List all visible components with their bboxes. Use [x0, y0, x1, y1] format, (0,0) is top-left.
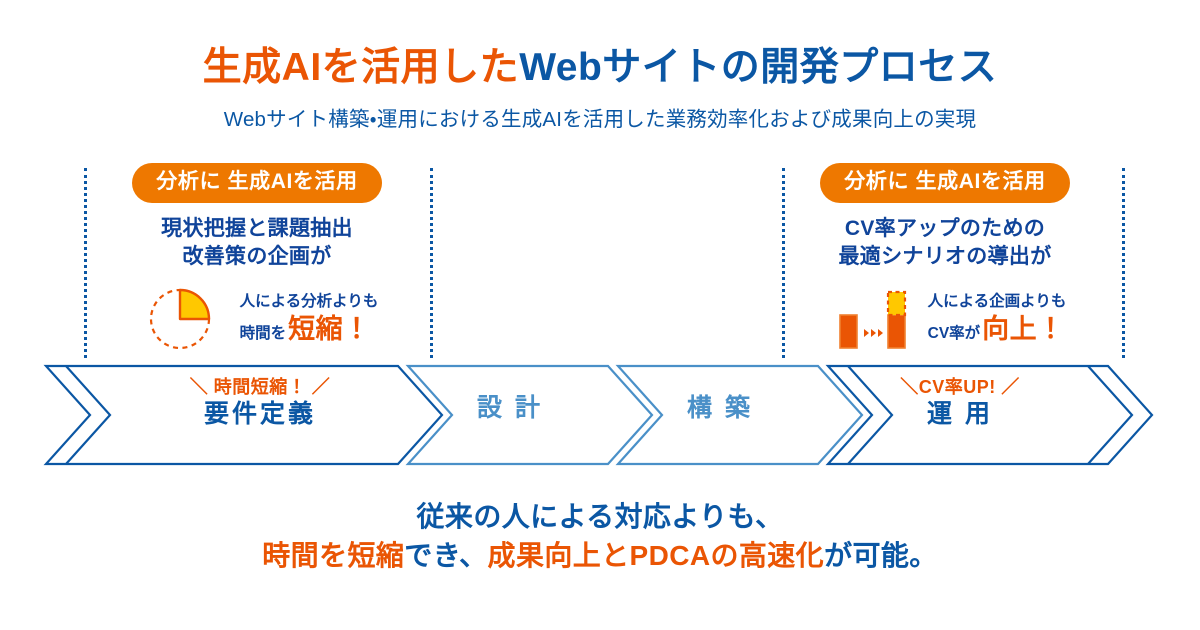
title-block: 生成AIを活用したWebサイトの開発プロセス Webサイト構築・運用における生成…: [0, 46, 1200, 132]
card-note-left-highlight: 短縮！: [288, 316, 371, 343]
page-subtitle: Webサイト構築・運用における生成AIを活用した業務効率化および成果向上の実現: [0, 102, 1200, 132]
card-note-left: 人による分析よりも 時間を 短縮！: [240, 294, 379, 343]
callout-card-operation: 分析に 生成AIを活用 CV率アップのための 最適シナリオの導出が: [780, 163, 1110, 356]
guide-line-right-end: [1122, 168, 1125, 358]
process-flow: ＼ 時間短縮！ ／ 要件定義 設 計 構 築 ＼CV率UP! ／ 運 用: [0, 362, 1200, 468]
guide-line-left-start: [84, 168, 87, 358]
card-headline-left-line1: 現状把握と課題抽出: [92, 215, 422, 243]
card-headline-left-line2: 改善策の企画が: [92, 243, 422, 271]
conclusion-line-1: 従来の人による対応よりも、: [0, 498, 1200, 537]
page-title: 生成AIを活用したWebサイトの開発プロセス: [0, 46, 1200, 90]
bar-chart-growth-icon: [824, 282, 916, 356]
flow-step-operation[interactable]: ＼CV率UP! ／ 運 用: [850, 378, 1070, 427]
infographic-canvas: 生成AIを活用したWebサイトの開発プロセス Webサイト構築・運用における生成…: [0, 0, 1200, 630]
card-note-right-highlight: 向上！: [982, 316, 1065, 343]
card-note-right-prefix: CV率が: [928, 326, 981, 342]
flow-step-build-name: 構 築: [640, 396, 800, 421]
card-note-right-line1: 人による企画よりも: [928, 294, 1067, 310]
flow-step-requirements[interactable]: ＼ 時間短縮！ ／ 要件定義: [150, 378, 370, 427]
callout-card-requirements: 分析に 生成AIを活用 現状把握と課題抽出 改善策の企画が 人による分析よりも …: [92, 163, 422, 356]
conclusion-line-2: 時間を短縮でき、成果向上とPDCAの高速化が可能。: [0, 537, 1200, 576]
conclusion-block: 従来の人による対応よりも、 時間を短縮でき、成果向上とPDCAの高速化が可能。: [0, 498, 1200, 575]
card-figure-right: 人による企画よりも CV率が 向上！: [780, 282, 1110, 356]
card-headline-right-line1: CV率アップのための: [780, 215, 1110, 243]
conclusion-connector-2: が可能。: [824, 540, 938, 571]
pie-chart-icon: [136, 282, 228, 356]
flow-step-operation-name: 運 用: [850, 402, 1070, 427]
card-headline-left: 現状把握と課題抽出 改善策の企画が: [92, 215, 422, 272]
badge-ai-analysis-left: 分析に 生成AIを活用: [132, 163, 381, 203]
card-note-left-prefix: 時間を: [240, 326, 287, 342]
flow-step-design[interactable]: 設 計: [430, 396, 590, 421]
flow-step-build[interactable]: 構 築: [640, 396, 800, 421]
page-title-orange-part: 生成AIを活用した: [203, 46, 520, 89]
card-note-right: 人による企画よりも CV率が 向上！: [928, 294, 1067, 343]
conclusion-highlight-pdca: 成果向上とPDCAの高速化: [488, 540, 825, 571]
page-title-blue-part: Webサイトの開発プロセス: [519, 46, 997, 89]
card-figure-left: 人による分析よりも 時間を 短縮！: [92, 282, 422, 356]
card-headline-right-line2: 最適シナリオの導出が: [780, 243, 1110, 271]
conclusion-highlight-time: 時間を短縮: [262, 540, 404, 571]
flow-step-operation-kicker: ＼CV率UP! ／: [850, 378, 1070, 396]
card-headline-right: CV率アップのための 最適シナリオの導出が: [780, 215, 1110, 272]
flow-step-requirements-kicker: ＼ 時間短縮！ ／: [150, 378, 370, 396]
flow-step-design-name: 設 計: [430, 396, 590, 421]
badge-ai-analysis-right: 分析に 生成AIを活用: [820, 163, 1069, 203]
guide-line-left-end: [430, 168, 433, 358]
card-note-left-line1: 人による分析よりも: [240, 294, 379, 310]
flow-step-requirements-name: 要件定義: [150, 402, 370, 427]
conclusion-connector-1: でき、: [404, 540, 487, 571]
